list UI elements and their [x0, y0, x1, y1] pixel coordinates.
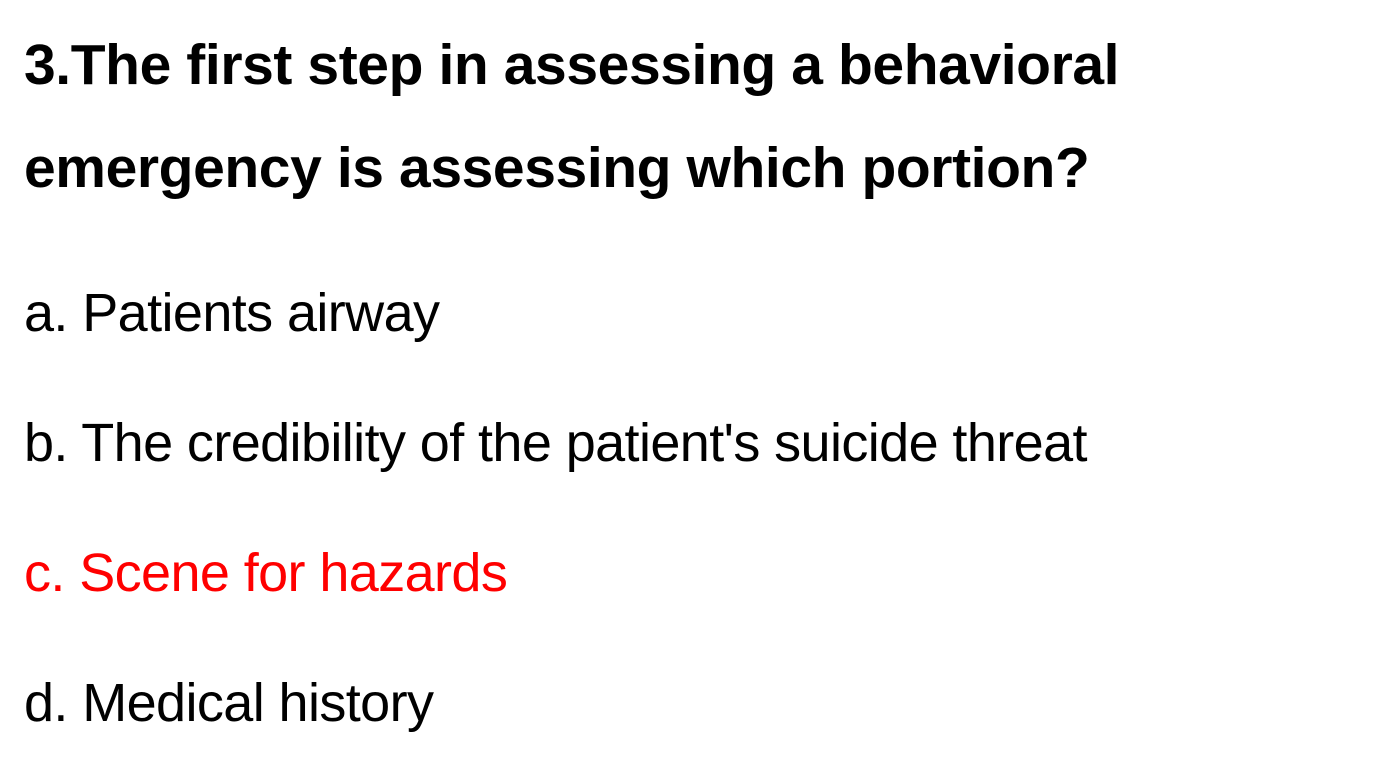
answer-option-d[interactable]: d. Medical history	[24, 638, 1384, 768]
answer-option-a[interactable]: a. Patients airway	[24, 248, 1384, 378]
question-text: 3.The first step in assessing a behavior…	[24, 14, 1224, 220]
answer-option-c[interactable]: c. Scene for hazards	[24, 508, 1384, 638]
quiz-slide: 3.The first step in assessing a behavior…	[0, 0, 1391, 726]
answer-option-b[interactable]: b. The credibility of the patient's suic…	[24, 378, 1384, 508]
answer-options-list: a. Patients airway b. The credibility of…	[24, 248, 1384, 768]
